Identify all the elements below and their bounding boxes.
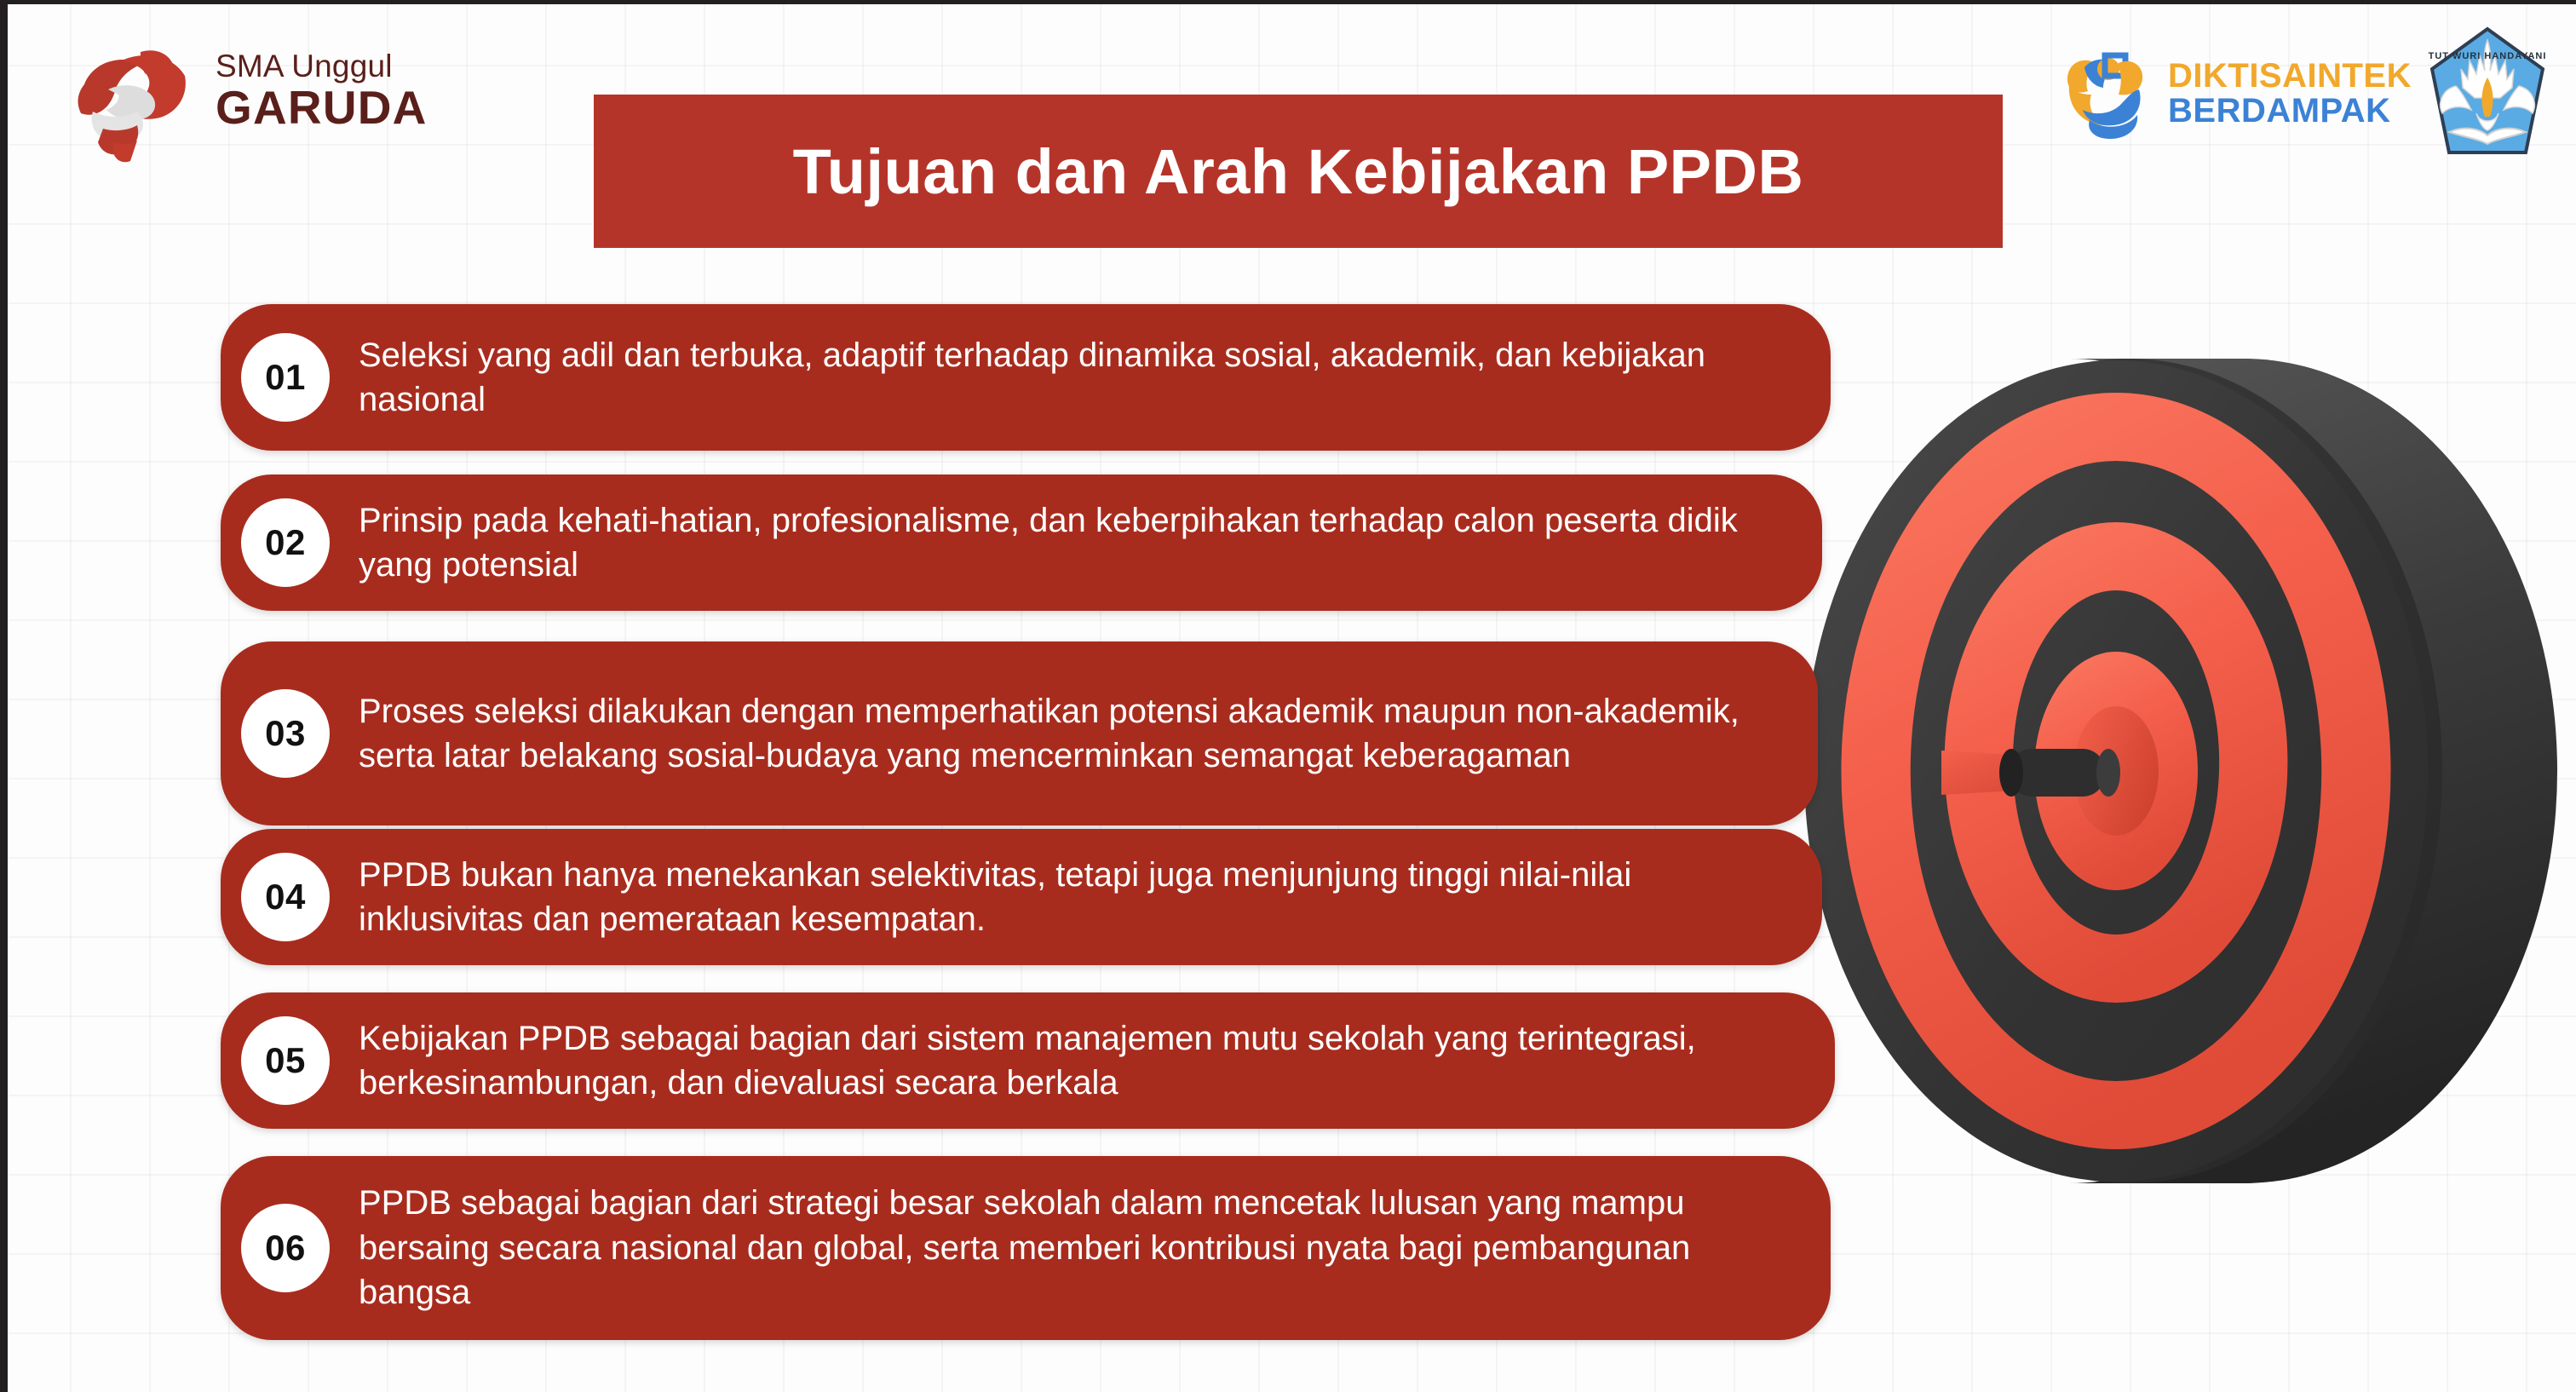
list-item[interactable]: 04 PPDB bukan hanya menekankan selektivi… [221, 829, 1822, 965]
item-text: Kebijakan PPDB sebagai bagian dari siste… [330, 1016, 1835, 1106]
list-item[interactable]: 02 Prinsip pada kehati-hatian, profesion… [221, 475, 1822, 611]
list-item[interactable]: 03 Proses seleksi dilakukan dengan mempe… [221, 641, 1818, 825]
policy-items-list: 01 Seleksi yang adil dan terbuka, adapti… [8, 4, 2576, 1392]
item-text: Seleksi yang adil dan terbuka, adaptif t… [330, 333, 1831, 423]
item-text: PPDB sebagai bagian dari strategi besar … [330, 1181, 1831, 1314]
item-text: PPDB bukan hanya menekankan selektivitas… [330, 853, 1822, 942]
item-number-badge: 01 [241, 333, 330, 422]
list-item[interactable]: 06 PPDB sebagai bagian dari strategi bes… [221, 1156, 1831, 1340]
item-text: Proses seleksi dilakukan dengan memperha… [330, 689, 1818, 779]
list-item[interactable]: 05 Kebijakan PPDB sebagai bagian dari si… [221, 992, 1835, 1129]
list-item[interactable]: 01 Seleksi yang adil dan terbuka, adapti… [221, 304, 1831, 451]
item-number-badge: 06 [241, 1204, 330, 1292]
item-number-badge: 04 [241, 853, 330, 941]
item-number-badge: 02 [241, 498, 330, 587]
presentation-slide: SMA Unggul GARUDA Tujuan dan Arah Kebija… [0, 0, 2576, 1392]
item-number-badge: 05 [241, 1016, 330, 1105]
item-number-badge: 03 [241, 689, 330, 778]
item-text: Prinsip pada kehati-hatian, profesionali… [330, 498, 1822, 588]
